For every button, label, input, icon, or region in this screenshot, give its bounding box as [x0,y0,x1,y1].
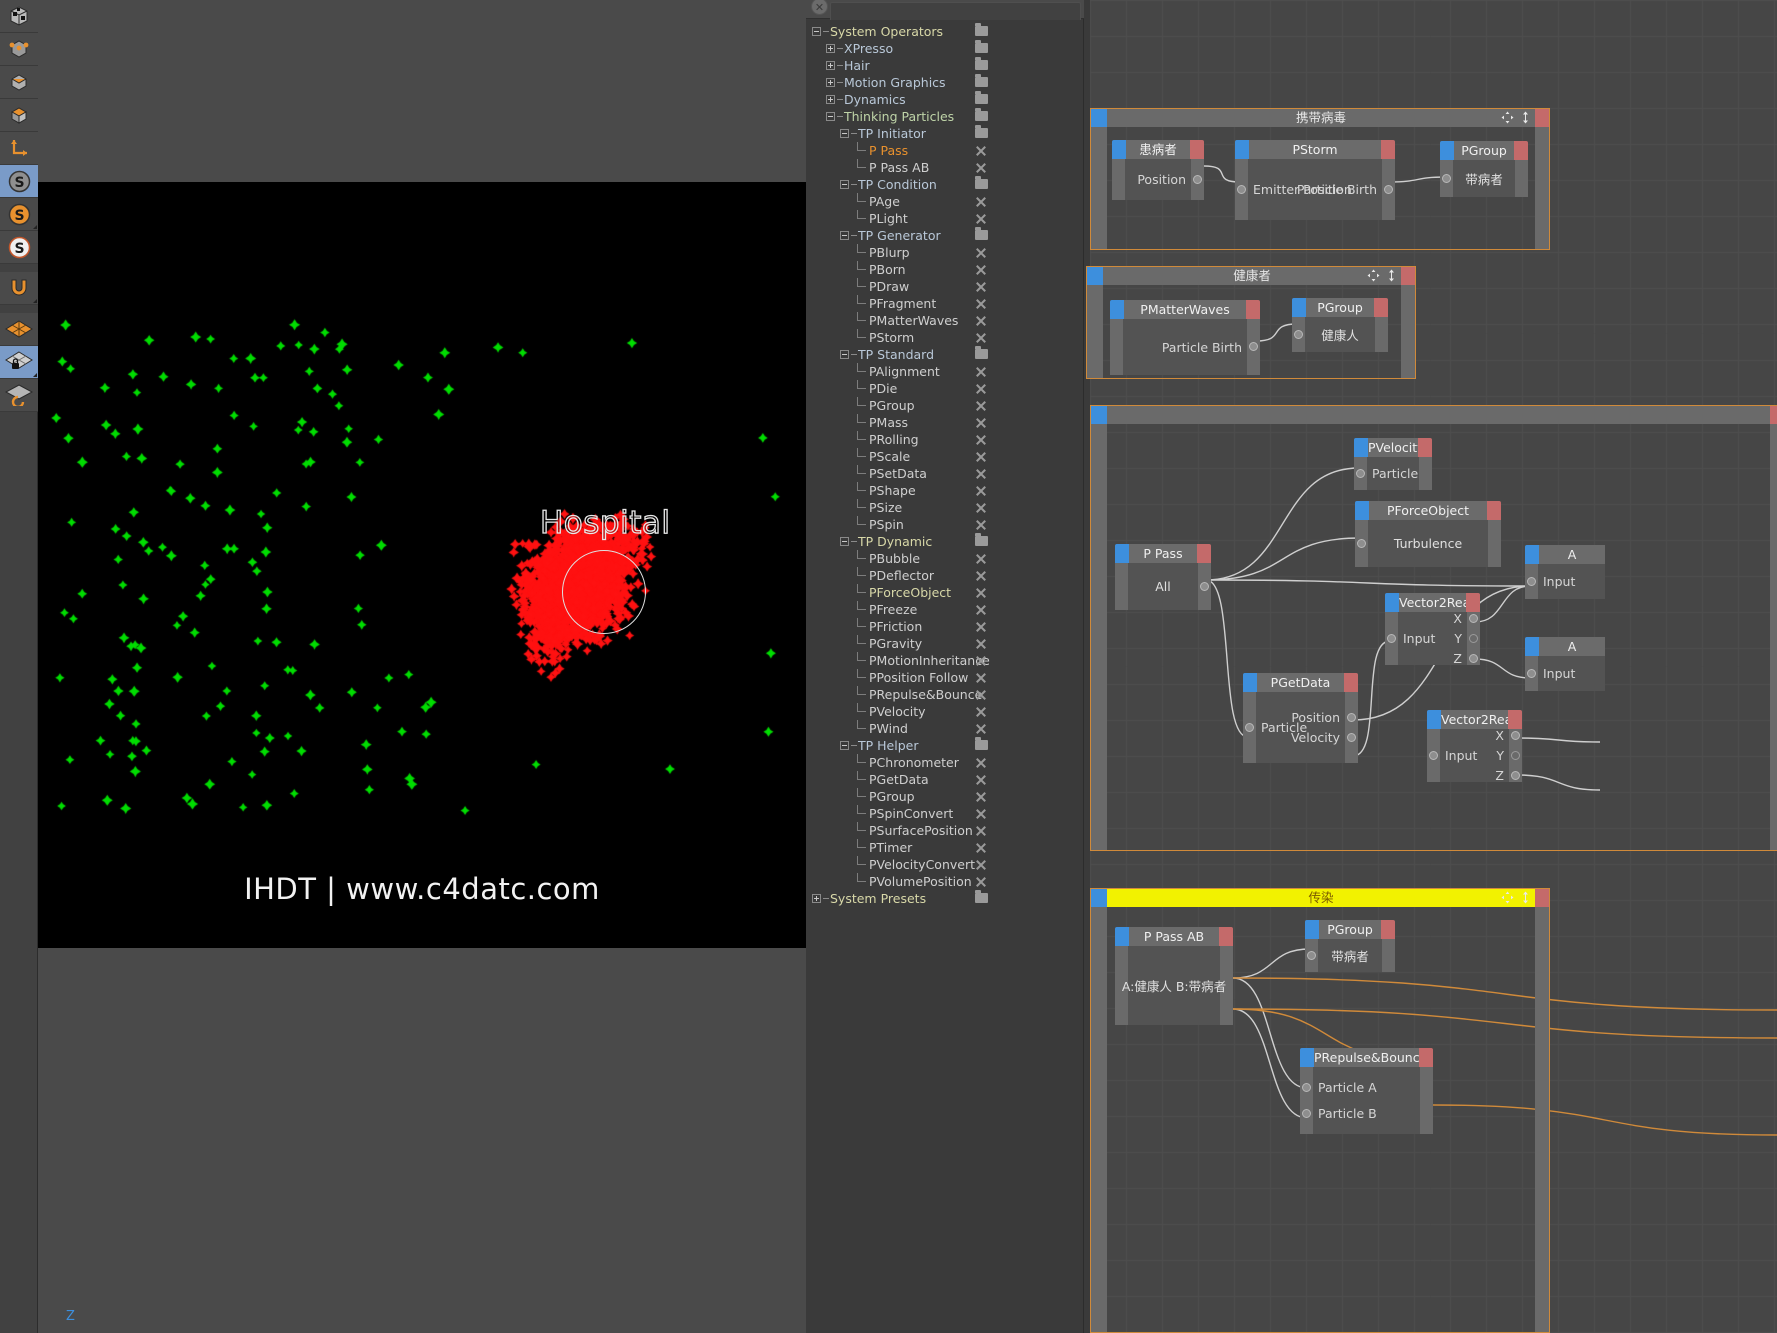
group-header[interactable]: 携带病毒 [1091,109,1549,127]
x-icon[interactable] [975,825,987,836]
x-icon[interactable] [975,332,987,343]
port-label: Velocity [1291,730,1340,745]
node-input-port[interactable] [1354,438,1368,457]
tree-connector [854,244,869,261]
tree-connector [854,193,869,210]
folder-icon[interactable] [975,740,988,750]
tree-item-pmatterwaves[interactable]: PMatterWaves [806,312,1084,329]
port-row: 健康人 [1292,325,1388,345]
tree-item-pvelocityconvert[interactable]: PVelocityConvert [806,856,1084,873]
node-output-port[interactable] [1514,141,1528,160]
node-header[interactable]: PGetData [1243,673,1358,692]
node-output-port[interactable] [1381,920,1395,939]
x-icon[interactable] [975,655,987,666]
viewport-top-filler [38,0,806,182]
collapse-icon[interactable] [840,231,849,240]
tree-connector [854,278,869,295]
tree-item-label: PSize [869,500,902,515]
tree-item-label: TP Condition [858,177,937,192]
tree-item-tp-condition[interactable]: TP Condition [806,176,1084,193]
move-icon[interactable] [1501,891,1514,904]
close-icon[interactable]: ✕ [811,0,828,15]
x-icon[interactable] [975,791,987,802]
tree-connector [851,354,857,355]
group-input-port[interactable] [1091,406,1107,424]
port-dot[interactable] [1347,713,1356,722]
x-icon[interactable] [975,264,987,275]
node-output-port[interactable] [1344,673,1358,692]
x-icon[interactable] [975,808,987,819]
folder-icon[interactable] [975,179,988,189]
port-dot[interactable] [1193,175,1202,184]
port-row: A:健康人 B:带病者 [1115,976,1233,996]
x-icon[interactable] [975,145,987,156]
x-icon[interactable] [975,315,987,326]
svg-text:S: S [14,175,24,191]
x-icon[interactable] [975,451,987,462]
tree-item-label: P Pass [869,143,908,158]
node-input-port[interactable] [1235,140,1249,159]
x-icon[interactable] [975,434,987,445]
node-body: Position [1112,159,1204,200]
collapse-icon[interactable] [840,180,849,189]
tree-tabbar: ✕ [806,0,1084,19]
node-output-port[interactable] [1374,298,1388,317]
tree-item-label: PFreeze [869,602,917,617]
folder-icon[interactable] [975,230,988,240]
tree-item-prepulse-bounce[interactable]: PRepulse&Bounce [806,686,1084,703]
x-icon[interactable] [975,604,987,615]
tree-item-xpresso[interactable]: XPresso [806,40,1084,57]
tree-connector [854,448,869,465]
port-dot[interactable] [1302,1109,1311,1118]
tree-item-motion-graphics[interactable]: Motion Graphics [806,74,1084,91]
node-vector2reals-1[interactable]: Vector2Reals Input X Y Z [1385,593,1480,665]
move-icon[interactable] [1367,269,1380,282]
node-header[interactable]: P Pass [1115,544,1211,563]
polygons-mode-icon[interactable] [0,99,38,132]
port-label: X [1495,728,1504,743]
x-icon[interactable] [975,672,987,683]
tree-connector [851,184,857,185]
tree-item-pgravity[interactable]: PGravity [806,635,1084,652]
tree-item-label: PVolumePosition [869,874,972,889]
port-dot[interactable] [1356,469,1365,478]
tree-item-pspin[interactable]: PSpin [806,516,1084,533]
port-label: 带病者 [1440,169,1528,188]
x-icon[interactable] [975,859,987,870]
group-title: 健康者 [1103,267,1401,285]
x-icon[interactable] [975,553,987,564]
tree-item-label: PPosition Follow [869,670,968,685]
x-icon[interactable] [975,638,987,649]
tree-item-pgroup[interactable]: PGroup [806,397,1084,414]
x-icon[interactable] [975,621,987,632]
folder-icon[interactable] [975,60,988,70]
node-header[interactable]: PMatterWaves [1110,300,1260,319]
folder-icon[interactable] [975,111,988,121]
tree-item-tp-helper[interactable]: TP Helper [806,737,1084,754]
group-title [1107,406,1770,424]
x-icon[interactable] [975,485,987,496]
node-input-port[interactable] [1440,141,1454,160]
node-header[interactable]: A [1525,637,1605,656]
tree-item-label: PVelocity [869,704,926,719]
expand-icon[interactable] [812,894,821,903]
x-icon[interactable] [975,468,987,479]
collapse-icon[interactable] [812,27,821,36]
x-icon[interactable] [975,162,987,173]
port-label: Particle A [1318,1080,1377,1095]
tree-item-psize[interactable]: PSize [806,499,1084,516]
tree-connector [837,99,843,100]
node-arith-2[interactable]: A Input [1525,637,1605,691]
port-dot[interactable] [1511,771,1520,780]
x-icon[interactable] [975,417,987,428]
tree-connector [854,567,869,584]
x-icon[interactable] [975,876,987,887]
node-pvelocity[interactable]: PVelocity Particle [1354,438,1432,490]
lock-workplane-icon[interactable] [0,346,38,379]
node-output-port[interactable] [1197,544,1211,563]
group-output-port[interactable] [1401,267,1415,285]
tree-item-pdie[interactable]: PDie [806,380,1084,397]
port-dot[interactable] [1384,185,1393,194]
tree-connector [854,397,869,414]
node-body: Input X Y Z [1385,612,1480,665]
object-axis-icon[interactable]: S [0,198,38,231]
node-pforceobject[interactable]: PForceObject Turbulence [1355,501,1501,567]
x-icon[interactable] [975,723,987,734]
node-output-port[interactable] [1487,501,1501,520]
node-input-port[interactable] [1115,927,1129,946]
tree-item-plight[interactable]: PLight [806,210,1084,227]
tree-item-pscale[interactable]: PScale [806,448,1084,465]
node-input-port[interactable] [1292,298,1306,317]
node-arith-1[interactable]: A Input [1525,545,1605,599]
tree-item-thinking-particles[interactable]: Thinking Particles [806,108,1084,125]
folder-icon[interactable] [975,94,988,104]
node-header[interactable]: PRepulse&Bounce [1300,1048,1433,1067]
tree-item-tp-standard[interactable]: TP Standard [806,346,1084,363]
node-output-port[interactable] [1419,1048,1433,1067]
collapse-icon[interactable] [840,741,849,750]
tree-connector [851,133,857,134]
node-header[interactable]: PGroup [1440,141,1528,160]
node-title: A [1539,545,1605,564]
port-dot[interactable] [1511,731,1520,740]
viewport-panel: Hospital IHDT | www.c4datc.com Z [38,0,806,1333]
folder-icon[interactable] [975,893,988,903]
left-toolbar: S S S [0,0,38,1333]
node-body: 带病者 [1305,939,1395,972]
tree-scroll-area[interactable]: System OperatorsXPressoHairMotion Graphi… [806,19,1084,1333]
tree-item-pborn[interactable]: PBorn [806,261,1084,278]
x-icon[interactable] [975,213,987,224]
xpresso-node-graph[interactable]: 携带病毒 健康者 [1084,0,1777,1333]
tree-item-label: TP Generator [858,228,941,243]
port-dot[interactable] [1347,733,1356,742]
x-icon[interactable] [975,570,987,581]
tree-connector [854,363,869,380]
port-row: Z [1385,649,1480,669]
node-pgroup-carrier[interactable]: PGroup 带病者 [1440,141,1528,197]
port-dot[interactable] [1527,669,1536,678]
node-prepulse[interactable]: PRepulse&Bounce Particle A Particle B [1300,1048,1433,1134]
tree-item-p-pass-ab[interactable]: P Pass AB [806,159,1084,176]
node-body: Particle Birth [1110,319,1260,375]
node-pgroup-infected[interactable]: PGroup 带病者 [1305,920,1395,972]
group-input-port[interactable] [1091,889,1107,907]
x-icon[interactable] [975,706,987,717]
tree-item-psetdata[interactable]: PSetData [806,465,1084,482]
tree-item-page[interactable]: PAge [806,193,1084,210]
tree-connector [854,856,869,873]
tree-item-pmotioninheritance[interactable]: PMotionInheritance [806,652,1084,669]
node-pstorm[interactable]: PStorm Emitter Position Particle Birth [1235,140,1395,220]
tree-item-pspinconvert[interactable]: PSpinConvert [806,805,1084,822]
tree-item-label: PSurfacePosition [869,823,973,838]
tree-item-hair[interactable]: Hair [806,57,1084,74]
tree-item-pstorm[interactable]: PStorm [806,329,1084,346]
tree-connector [854,669,869,686]
group-input-port[interactable] [1091,109,1107,127]
node-output-port[interactable] [1246,300,1260,319]
tree-item-pchronometer[interactable]: PChronometer [806,754,1084,771]
tree-connector [854,516,869,533]
x-icon[interactable] [975,502,987,513]
tree-item-label: PSpinConvert [869,806,953,821]
render-viewport[interactable]: Hospital IHDT | www.c4datc.com [38,182,806,948]
tree-item-system-presets[interactable]: System Presets [806,890,1084,907]
collapse-icon[interactable] [840,350,849,359]
tree-item-label: PMass [869,415,908,430]
tree-item-tp-dynamic[interactable]: TP Dynamic [806,533,1084,550]
x-icon[interactable] [975,400,987,411]
x-icon[interactable] [975,247,987,258]
x-icon[interactable] [975,774,987,785]
folder-icon[interactable] [975,43,988,53]
hospital-label: Hospital [540,505,670,541]
tree-item-label: PFragment [869,296,936,311]
tree-item-label: PFriction [869,619,922,634]
move-icon[interactable] [1501,111,1514,124]
tree-item-pshape[interactable]: PShape [806,482,1084,499]
folder-icon[interactable] [975,128,988,138]
x-icon[interactable] [975,757,987,768]
port-dot[interactable] [1469,654,1478,663]
folder-icon[interactable] [975,536,988,546]
tree-item-label: PRepulse&Bounce [869,687,982,702]
tree-item-pvelocity[interactable]: PVelocity [806,703,1084,720]
tree-item-p-pass[interactable]: P Pass [806,142,1084,159]
tree-connector [854,329,869,346]
node-header[interactable]: PForceObject [1355,501,1501,520]
svg-text:S: S [14,241,24,257]
port-dot[interactable] [1469,634,1478,643]
node-vector2reals-2[interactable]: Vector2Reals Input X Y Z [1427,710,1522,782]
group-left-rail [1087,285,1103,378]
resize-icon[interactable] [1520,891,1531,904]
tree-item-prolling[interactable]: PRolling [806,431,1084,448]
node-header[interactable]: PGroup [1305,920,1395,939]
node-input-port[interactable] [1525,545,1539,564]
tree-item-system-operators[interactable]: System Operators [806,23,1084,40]
tree-item-tp-generator[interactable]: TP Generator [806,227,1084,244]
tree-item-ptimer[interactable]: PTimer [806,839,1084,856]
toolbar-separator-1 [0,264,38,272]
expand-icon[interactable] [826,44,835,53]
group-output-port[interactable] [1535,889,1549,907]
node-pgetdata[interactable]: PGetData Particle Position Velocity [1243,673,1358,763]
port-label: Turbulence [1355,536,1501,551]
x-icon[interactable] [975,298,987,309]
group-right-rail [1401,285,1415,378]
node-title: PStorm [1249,140,1381,159]
port-dot[interactable] [1302,1083,1311,1092]
node-title: A [1539,637,1605,656]
port-dot[interactable] [1249,342,1258,351]
workplane-rotate-icon[interactable] [0,379,38,412]
group-output-port[interactable] [1535,109,1549,127]
node-header[interactable]: P Pass AB [1115,927,1233,946]
tree-item-pblurp[interactable]: PBlurp [806,244,1084,261]
tree-connector [851,235,857,236]
expand-icon[interactable] [826,78,835,87]
points-mode-icon[interactable] [0,33,38,66]
resize-icon[interactable] [1520,111,1531,124]
tree-connector [854,159,869,176]
resize-icon[interactable] [1386,269,1397,282]
tree-item-dynamics[interactable]: Dynamics [806,91,1084,108]
node-ppass[interactable]: P Pass All [1115,544,1211,610]
x-icon[interactable] [975,281,987,292]
tree-item-pmass[interactable]: PMass [806,414,1084,431]
node-header[interactable]: PStorm [1235,140,1395,159]
port-dot[interactable] [1237,185,1246,194]
tree-item-label: System Operators [830,24,943,39]
node-input-port[interactable] [1300,1048,1314,1067]
tree-item-tp-initiator[interactable]: TP Initiator [806,125,1084,142]
tree-item-pgroup[interactable]: PGroup [806,788,1084,805]
node-input-port[interactable] [1525,637,1539,656]
node-input-port[interactable] [1355,501,1369,520]
x-icon[interactable] [975,383,987,394]
tree-item-pdeflector[interactable]: PDeflector [806,567,1084,584]
tree-item-pgetdata[interactable]: PGetData [806,771,1084,788]
tree-item-pdraw[interactable]: PDraw [806,278,1084,295]
grid-icon[interactable] [0,313,38,346]
node-output-port[interactable] [1190,140,1204,159]
node-pgroup-healthy[interactable]: PGroup 健康人 [1292,298,1388,352]
node-ppass-ab[interactable]: P Pass AB A:健康人 B:带病者 [1115,927,1233,1025]
tree-connector [854,788,869,805]
tree-item-label: PGravity [869,636,922,651]
port-label: X [1453,611,1462,626]
tree-item-pforceobject[interactable]: PForceObject [806,584,1084,601]
expand-icon[interactable] [826,61,835,70]
world-object-coord-icon[interactable]: S [0,165,38,198]
port-dot[interactable] [1527,577,1536,586]
tree-item-pfragment[interactable]: PFragment [806,295,1084,312]
hospital-circle-indicator [562,550,646,634]
node-input-port[interactable] [1112,140,1126,159]
node-body: Particle Position Velocity [1243,692,1358,763]
texture-axis-icon[interactable]: S [0,231,38,264]
x-icon[interactable] [975,196,987,207]
node-input-port[interactable] [1243,673,1257,692]
tree-item-pposition-follow[interactable]: PPosition Follow [806,669,1084,686]
collapse-icon[interactable] [826,112,835,121]
node-output-port[interactable] [1219,927,1233,946]
node-input-port[interactable] [1110,300,1124,319]
node-title: PMatterWaves [1124,300,1246,319]
tree-item-pwind[interactable]: PWind [806,720,1084,737]
node-header[interactable]: A [1525,545,1605,564]
node-header[interactable]: PVelocity [1354,438,1432,457]
group-output-port[interactable] [1770,406,1777,424]
node-patient[interactable]: 患病者 Position [1112,140,1204,200]
group-header[interactable] [1091,406,1777,424]
x-icon[interactable] [975,366,987,377]
node-output-port[interactable] [1381,140,1395,159]
tree-connector [854,686,869,703]
tree-item-pfriction[interactable]: PFriction [806,618,1084,635]
folder-icon[interactable] [975,26,988,36]
port-dot[interactable] [1469,614,1478,623]
x-icon[interactable] [975,689,987,700]
tree-connector [854,601,869,618]
group-left-rail [1091,424,1107,850]
tree-item-psurfaceposition[interactable]: PSurfacePosition [806,822,1084,839]
collapse-icon[interactable] [840,129,849,138]
magnet-icon[interactable] [0,272,38,305]
port-dot[interactable] [1511,751,1520,760]
tree-item-label: PAge [869,194,900,209]
tree-tab[interactable] [830,2,1081,20]
node-pmatterwaves[interactable]: PMatterWaves Particle Birth [1110,300,1260,375]
x-icon[interactable] [975,587,987,598]
tree-item-pvolumeposition[interactable]: PVolumePosition [806,873,1084,890]
group-header[interactable]: 传染 [1091,889,1549,907]
node-input-port[interactable] [1115,544,1129,563]
port-row: Particle [1354,464,1432,484]
folder-icon[interactable] [975,77,988,87]
tree-item-pfreeze[interactable]: PFreeze [806,601,1084,618]
node-header[interactable]: PGroup [1292,298,1388,317]
node-body: Turbulence [1355,520,1501,567]
x-icon[interactable] [975,519,987,530]
node-output-port[interactable] [1418,438,1432,457]
folder-icon[interactable] [975,349,988,359]
edges-mode-icon[interactable] [0,66,38,99]
x-icon[interactable] [975,842,987,853]
group-input-port[interactable] [1087,267,1103,285]
tree-item-label: PMatterWaves [869,313,958,328]
live-selection-icon[interactable] [0,0,38,33]
collapse-icon[interactable] [840,537,849,546]
tree-item-pbubble[interactable]: PBubble [806,550,1084,567]
viewport-bottom-filler: Z [38,948,806,1333]
tree-connector [854,720,869,737]
axis-modify-icon[interactable] [0,132,38,165]
expand-icon[interactable] [826,95,835,104]
tree-item-palignment[interactable]: PAlignment [806,363,1084,380]
group-header[interactable]: 健康者 [1087,267,1415,285]
port-label: Input [1543,574,1575,589]
node-header[interactable]: 患病者 [1112,140,1204,159]
node-input-port[interactable] [1305,920,1319,939]
